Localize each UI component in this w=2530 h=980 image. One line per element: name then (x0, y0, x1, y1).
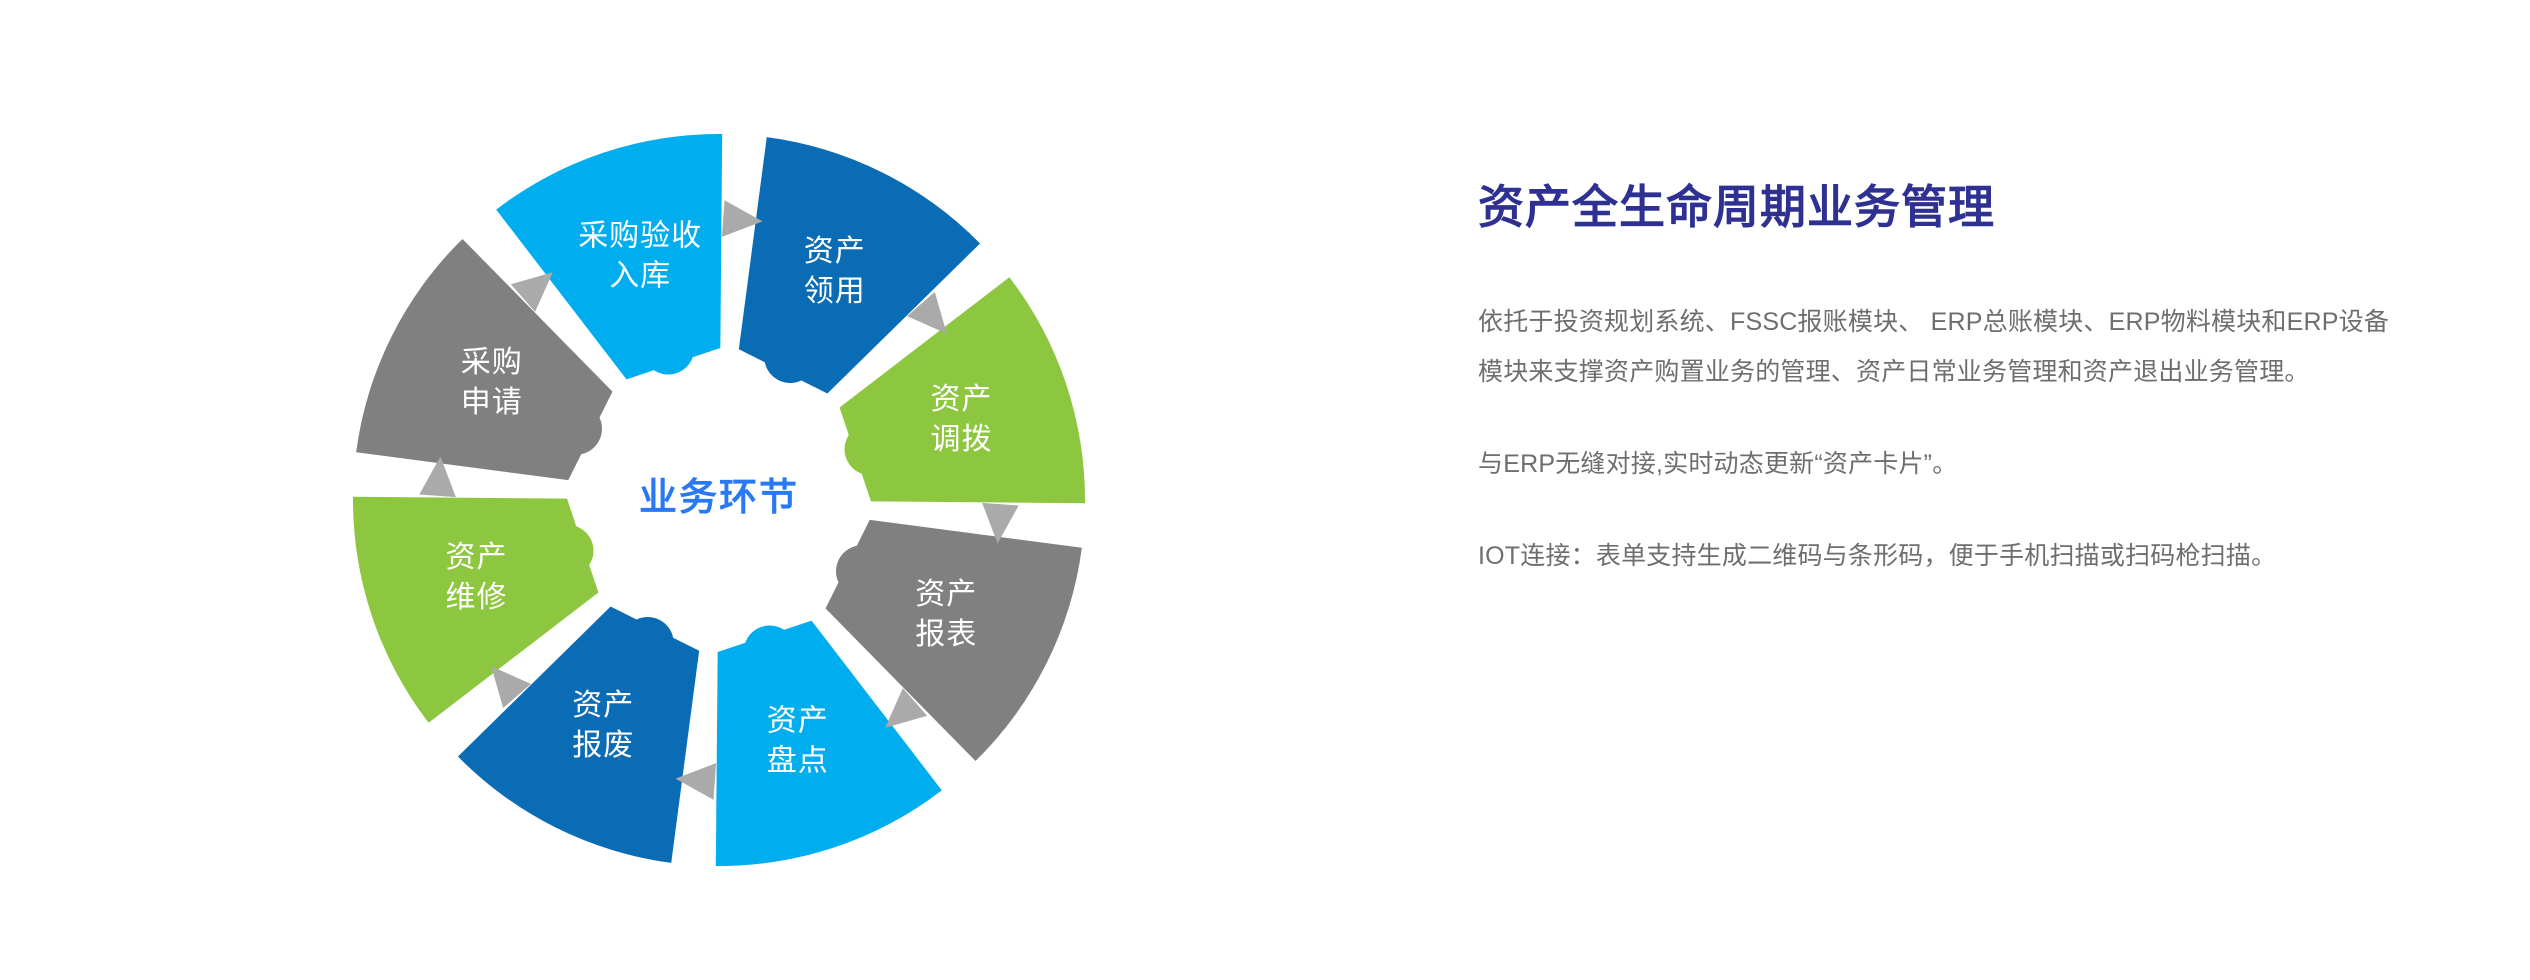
business-cycle-wheel-diagram: 资产领用资产调拨资产报表资产盘点资产报废资产维修采购申请采购验收入库 业务环节 (300, 100, 1140, 900)
description-paragraph-3: IOT连接：表单支持生成二维码与条形码，便于手机扫描或扫码枪扫描。 (1478, 531, 2393, 581)
slide-canvas: 资产领用资产调拨资产报表资产盘点资产报废资产维修采购申请采购验收入库 业务环节 … (0, 0, 2530, 980)
wheel-svg: 资产领用资产调拨资产报表资产盘点资产报废资产维修采购申请采购验收入库 业务环节 (300, 100, 1140, 900)
page-title: 资产全生命周期业务管理 (1478, 180, 2418, 235)
puzzle-knob-purchase-accept (642, 322, 694, 374)
puzzle-knob-asset-transfer (845, 423, 897, 475)
description-paragraph-2: 与ERP无缝对接,实时动态更新“资产卡片”。 (1478, 439, 2393, 489)
puzzle-knob-asset-receive (764, 331, 816, 383)
wheel-hub-label: 业务环节 (639, 477, 799, 519)
puzzle-knob-asset-repair (541, 525, 593, 577)
puzzle-knob-asset-report (836, 545, 888, 597)
puzzle-knob-asset-inventory (744, 626, 796, 678)
puzzle-knob-asset-scrap (622, 617, 674, 669)
puzzle-knob-purchase-request (550, 403, 602, 455)
description-panel: 资产全生命周期业务管理 依托于投资规划系统、FSSC报账模块、 ERP总账模块、… (1478, 180, 2418, 581)
description-paragraph-1: 依托于投资规划系统、FSSC报账模块、 ERP总账模块、ERP物料模块和ERP设… (1478, 297, 2393, 397)
